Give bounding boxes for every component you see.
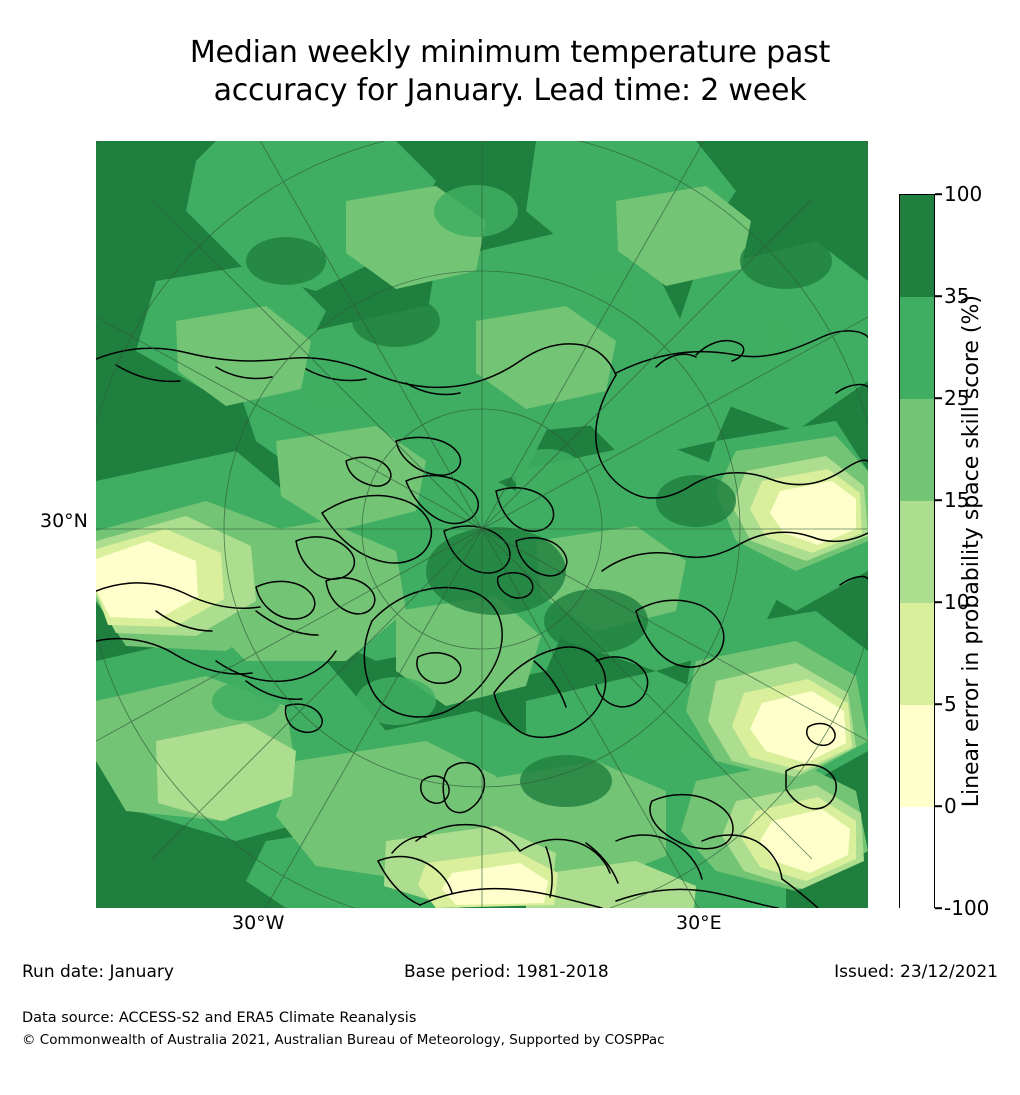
footer-run-date: Run date: January (22, 962, 174, 982)
colorbar (899, 194, 935, 908)
colorbar-tick-label: 5 (935, 692, 957, 716)
footer-issued: Issued: 23/12/2021 (834, 962, 998, 982)
figure-title: Median weekly minimum temperature past a… (0, 34, 1020, 110)
footer-data-source: Data source: ACCESS-S2 and ERA5 Climate … (22, 1010, 416, 1026)
colorbar-tick-label: 0 (935, 794, 957, 818)
figure-title-line-1: Median weekly minimum temperature past (0, 34, 1020, 72)
map-raster (96, 141, 868, 908)
footer-copyright: © Commonwealth of Australia 2021, Austra… (22, 1032, 665, 1048)
colorbar-title: Linear error in probability space skill … (956, 194, 986, 908)
axis-label-lat-30n: 30°N (40, 510, 88, 532)
colorbar-segment (900, 501, 934, 603)
coastlines (96, 141, 868, 908)
colorbar-title-text: Linear error in probability space skill … (959, 295, 984, 807)
colorbar-segment (900, 807, 934, 909)
axis-label-lon-30e: 30°E (676, 912, 722, 934)
colorbar-segment (900, 297, 934, 399)
footer-row: Run date: January Base period: 1981-2018… (0, 962, 1020, 986)
colorbar-segment (900, 705, 934, 807)
colorbar-segment (900, 399, 934, 501)
axis-label-lon-30w: 30°W (232, 912, 284, 934)
colorbar-segment (900, 603, 934, 705)
figure-title-line-2: accuracy for January. Lead time: 2 week (0, 72, 1020, 110)
colorbar-segment (900, 195, 934, 297)
map-plot-area (96, 141, 868, 908)
footer-base-period: Base period: 1981-2018 (404, 962, 609, 982)
